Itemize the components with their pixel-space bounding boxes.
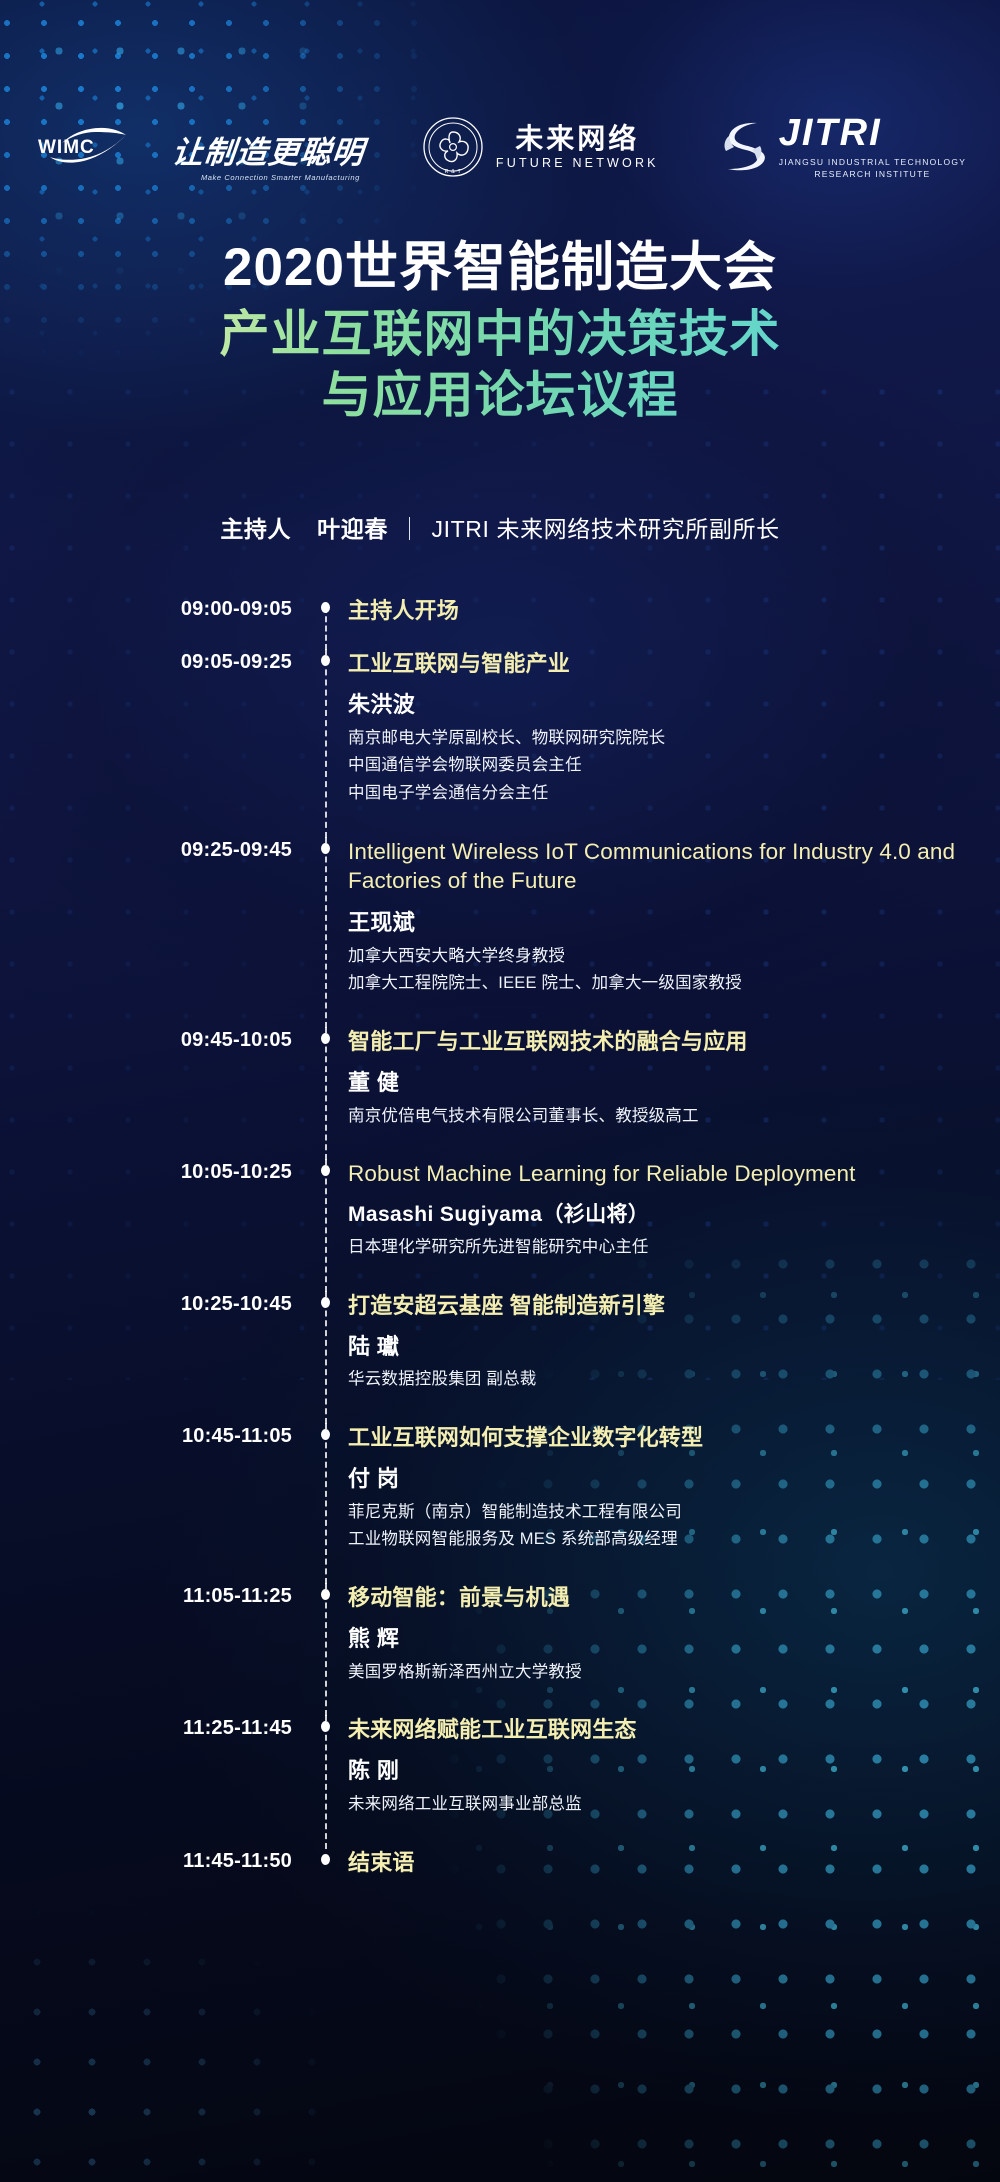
- agenda-speaker-name: Masashi Sugiyama（衫山将）: [348, 1202, 1000, 1228]
- timeline-dashed-line: [325, 607, 327, 650]
- agenda-row: 09:45-10:05智能工厂与工业互联网技术的融合与应用董 健南京优倍电气技术…: [0, 1027, 1000, 1159]
- agenda-speaker-name: 熊 辉: [348, 1625, 1000, 1653]
- jitri-subtitle: JIANGSU INDUSTRIAL TECHNOLOGYRESEARCH IN…: [779, 156, 966, 181]
- agenda-talk-title: 工业互联网如何支撑企业数字化转型: [348, 1423, 1000, 1452]
- headline-main-title: 2020世界智能制造大会: [0, 238, 1000, 298]
- affiliation-line: 中国通信学会物联网委员会主任: [348, 752, 1000, 779]
- svg-text:WIMC: WIMC: [38, 137, 95, 158]
- timeline-dot-icon: [321, 1429, 330, 1440]
- agenda-row: 10:45-11:05工业互联网如何支撑企业数字化转型付 岗菲尼克斯（南京）智能…: [0, 1423, 1000, 1583]
- timeline-dashed-line: [325, 1715, 327, 1848]
- agenda-timeline-rail: [310, 649, 342, 837]
- host-label: 主持人: [220, 516, 291, 542]
- agenda-time: 11:25-11:45: [0, 1715, 310, 1738]
- wimc-logo: WIMC 让制造更聪明 Make Connection Smarter Manu…: [34, 113, 364, 182]
- wimc-swoosh-icon: WIMC: [34, 113, 166, 169]
- agenda-speaker-affiliation: 日本理化学研究所先进智能研究中心主任: [348, 1234, 1000, 1261]
- agenda-talk-title: 工业互联网与智能产业: [348, 649, 1000, 678]
- timeline-dot-icon: [321, 602, 330, 613]
- agenda-content: 移动智能：前景与机遇熊 辉美国罗格斯新泽西州立大学教授: [342, 1583, 1000, 1715]
- agenda-content: 智能工厂与工业互联网技术的融合与应用董 健南京优倍电气技术有限公司董事长、教授级…: [342, 1027, 1000, 1159]
- headline-subtitle: 产业互联网中的决策技术 与应用论坛议程: [0, 304, 1000, 426]
- future-network-seal-icon: R & T: [422, 116, 484, 178]
- agenda-speaker-affiliation: 南京邮电大学原副校长、物联网研究院院长中国通信学会物联网委员会主任中国电子学会通…: [348, 725, 1000, 807]
- affiliation-line: 南京优倍电气技术有限公司董事长、教授级高工: [348, 1103, 1000, 1130]
- agenda-speaker-name: 付 岗: [348, 1465, 1000, 1493]
- wimc-tagline: Make Connection Smarter Manufacturing: [201, 173, 360, 182]
- agenda-content: 打造安超云基座 智能制造新引擎陆 瓛华云数据控股集团 副总裁: [342, 1291, 1000, 1423]
- agenda-row: 10:25-10:45打造安超云基座 智能制造新引擎陆 瓛华云数据控股集团 副总…: [0, 1291, 1000, 1423]
- timeline-dot-icon: [321, 1165, 330, 1176]
- affiliation-line: 未来网络工业互联网事业部总监: [348, 1791, 1000, 1818]
- logo-bar: WIMC 让制造更聪明 Make Connection Smarter Manu…: [0, 108, 1000, 186]
- jitri-ribbon-icon: [717, 119, 769, 175]
- agenda-time: 11:05-11:25: [0, 1583, 310, 1606]
- affiliation-line: 加拿大工程院院士、IEEE 院士、加拿大一级国家教授: [348, 970, 1000, 997]
- affiliation-line: 工业物联网智能服务及 MES 系统部高级经理: [348, 1526, 1000, 1553]
- timeline-dot-icon: [321, 1033, 330, 1044]
- agenda-timeline-rail: [310, 596, 342, 649]
- timeline-dot-icon: [321, 1589, 330, 1600]
- agenda-content: 主持人开场: [342, 596, 1000, 649]
- agenda-content: 结束语: [342, 1848, 1000, 1901]
- agenda-talk-title: 未来网络赋能工业互联网生态: [348, 1715, 1000, 1744]
- host-line: 主持人叶迎春｜JITRI 未来网络技术研究所副所长: [0, 510, 1000, 544]
- agenda-time: 10:45-11:05: [0, 1423, 310, 1446]
- wimc-chinese-slogan: 让制造更聪明: [170, 138, 365, 169]
- agenda-row: 11:45-11:50结束语: [0, 1848, 1000, 1901]
- agenda-time: 10:25-10:45: [0, 1291, 310, 1314]
- agenda-talk-title: 移动智能：前景与机遇: [348, 1583, 1000, 1612]
- agenda-timeline-rail: [310, 1423, 342, 1583]
- affiliation-line: 美国罗格斯新泽西州立大学教授: [348, 1659, 1000, 1686]
- agenda-talk-title: 智能工厂与工业互联网技术的融合与应用: [348, 1027, 1000, 1056]
- future-network-english: FUTURE NETWORK: [496, 156, 659, 170]
- agenda-row: 09:00-09:05主持人开场: [0, 596, 1000, 649]
- affiliation-line: 菲尼克斯（南京）智能制造技术工程有限公司: [348, 1499, 1000, 1526]
- agenda-row: 11:05-11:25移动智能：前景与机遇熊 辉美国罗格斯新泽西州立大学教授: [0, 1583, 1000, 1715]
- agenda-content: 未来网络赋能工业互联网生态陈 刚未来网络工业互联网事业部总监: [342, 1715, 1000, 1847]
- timeline-dashed-line: [325, 1027, 327, 1160]
- agenda-speaker-name: 董 健: [348, 1069, 1000, 1097]
- headline-subtitle-line1: 产业互联网中的决策技术: [0, 304, 1000, 365]
- agenda-talk-title: 主持人开场: [348, 596, 1000, 625]
- agenda-time: 11:45-11:50: [0, 1848, 310, 1871]
- agenda-talk-title: 结束语: [348, 1848, 1000, 1877]
- affiliation-line: 日本理化学研究所先进智能研究中心主任: [348, 1234, 1000, 1261]
- agenda-speaker-affiliation: 南京优倍电气技术有限公司董事长、教授级高工: [348, 1103, 1000, 1130]
- agenda-timeline-rail: [310, 1159, 342, 1291]
- agenda-speaker-affiliation: 加拿大西安大略大学终身教授加拿大工程院院士、IEEE 院士、加拿大一级国家教授: [348, 943, 1000, 997]
- host-title: JITRI 未来网络技术研究所副所长: [432, 516, 780, 542]
- agenda-timeline-rail: [310, 837, 342, 1027]
- timeline-dashed-line: [325, 1583, 327, 1716]
- affiliation-line: 南京邮电大学原副校长、物联网研究院院长: [348, 725, 1000, 752]
- agenda-speaker-name: 王现斌: [348, 909, 1000, 937]
- agenda-time: 09:25-09:45: [0, 837, 310, 860]
- agenda-list: 09:00-09:05主持人开场09:05-09:25工业互联网与智能产业朱洪波…: [0, 596, 1000, 1901]
- future-network-logo: R & T 未来网络 FUTURE NETWORK: [422, 116, 659, 178]
- affiliation-line: 中国电子学会通信分会主任: [348, 780, 1000, 807]
- timeline-dashed-line: [325, 1291, 327, 1424]
- poster-headline: 2020世界智能制造大会 产业互联网中的决策技术 与应用论坛议程: [0, 238, 1000, 426]
- agenda-row: 09:25-09:45Intelligent Wireless IoT Comm…: [0, 837, 1000, 1027]
- agenda-timeline-rail: [310, 1715, 342, 1847]
- agenda-content: 工业互联网与智能产业朱洪波南京邮电大学原副校长、物联网研究院院长中国通信学会物联…: [342, 649, 1000, 837]
- jitri-logo: JITRI JIANGSU INDUSTRIAL TECHNOLOGYRESEA…: [717, 114, 966, 181]
- agenda-speaker-name: 陈 刚: [348, 1757, 1000, 1785]
- affiliation-line: 华云数据控股集团 副总裁: [348, 1366, 1000, 1393]
- agenda-row: 11:25-11:45未来网络赋能工业互联网生态陈 刚未来网络工业互联网事业部总…: [0, 1715, 1000, 1847]
- headline-subtitle-line2: 与应用论坛议程: [0, 365, 1000, 426]
- timeline-dot-icon: [321, 1854, 330, 1865]
- timeline-dashed-line: [325, 837, 327, 1028]
- conference-agenda-poster: WIMC 让制造更聪明 Make Connection Smarter Manu…: [0, 0, 1000, 2182]
- agenda-speaker-affiliation: 菲尼克斯（南京）智能制造技术工程有限公司工业物联网智能服务及 MES 系统部高级…: [348, 1499, 1000, 1553]
- agenda-timeline-rail: [310, 1583, 342, 1715]
- agenda-time: 09:00-09:05: [0, 596, 310, 619]
- host-name: 叶迎春: [317, 516, 388, 542]
- agenda-row: 09:05-09:25工业互联网与智能产业朱洪波南京邮电大学原副校长、物联网研究…: [0, 649, 1000, 837]
- host-divider: ｜: [398, 516, 422, 542]
- agenda-timeline-rail: [310, 1291, 342, 1423]
- agenda-speaker-affiliation: 未来网络工业互联网事业部总监: [348, 1791, 1000, 1818]
- timeline-dot-icon: [321, 655, 330, 666]
- agenda-talk-title: Robust Machine Learning for Reliable Dep…: [348, 1159, 1000, 1189]
- agenda-speaker-name: 陆 瓛: [348, 1333, 1000, 1361]
- timeline-dashed-line: [325, 1423, 327, 1584]
- svg-text:R & T: R & T: [445, 169, 462, 175]
- agenda-row: 10:05-10:25Robust Machine Learning for R…: [0, 1159, 1000, 1291]
- timeline-dashed-line: [325, 1159, 327, 1292]
- agenda-content: Robust Machine Learning for Reliable Dep…: [342, 1159, 1000, 1291]
- affiliation-line: 加拿大西安大略大学终身教授: [348, 943, 1000, 970]
- timeline-dot-icon: [321, 1721, 330, 1732]
- agenda-time: 09:05-09:25: [0, 649, 310, 672]
- timeline-dot-icon: [321, 843, 330, 854]
- agenda-talk-title: Intelligent Wireless IoT Communications …: [348, 837, 1000, 896]
- agenda-talk-title: 打造安超云基座 智能制造新引擎: [348, 1291, 1000, 1320]
- future-network-chinese: 未来网络: [515, 124, 639, 153]
- agenda-time: 10:05-10:25: [0, 1159, 310, 1182]
- jitri-name: JITRI: [779, 114, 966, 152]
- agenda-content: Intelligent Wireless IoT Communications …: [342, 837, 1000, 1027]
- agenda-speaker-affiliation: 华云数据控股集团 副总裁: [348, 1366, 1000, 1393]
- agenda-content: 工业互联网如何支撑企业数字化转型付 岗菲尼克斯（南京）智能制造技术工程有限公司工…: [342, 1423, 1000, 1583]
- agenda-timeline-rail: [310, 1848, 342, 1901]
- agenda-time: 09:45-10:05: [0, 1027, 310, 1050]
- timeline-dashed-line: [325, 649, 327, 838]
- agenda-speaker-affiliation: 美国罗格斯新泽西州立大学教授: [348, 1659, 1000, 1686]
- agenda-timeline-rail: [310, 1027, 342, 1159]
- agenda-speaker-name: 朱洪波: [348, 691, 1000, 719]
- timeline-dot-icon: [321, 1297, 330, 1308]
